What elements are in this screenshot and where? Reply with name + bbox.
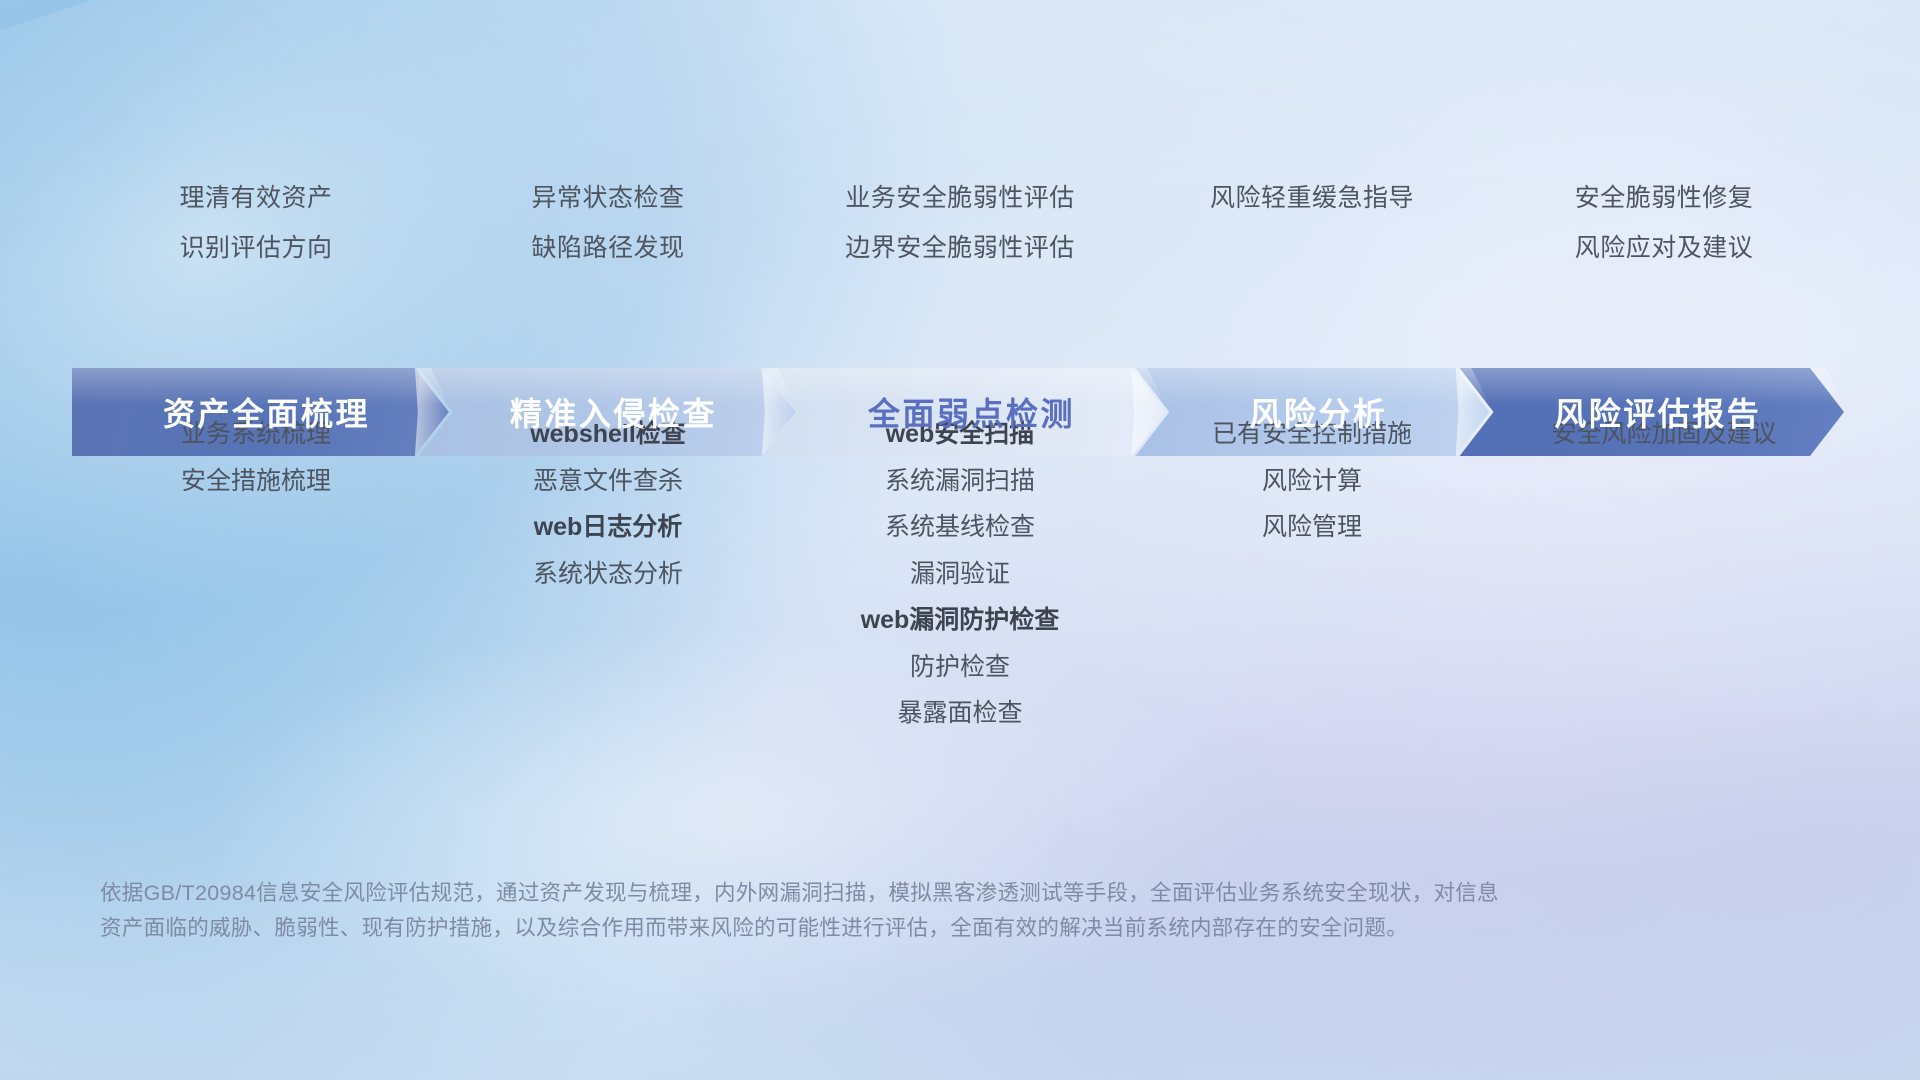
list-item: 暴露面检查 bbox=[897, 695, 1022, 733]
list-item: web日志分析 bbox=[534, 509, 683, 547]
top-label: 风险应对及建议 bbox=[1575, 228, 1754, 264]
list-item-latin: web漏洞防护检查 bbox=[861, 606, 1060, 634]
process-diagram: 理清有效资产 识别评估方向 异常状态检查 缺陷路径发现 业务安全脆弱性评估 边界… bbox=[0, 0, 1920, 1080]
list-item: 系统状态分析 bbox=[533, 556, 683, 594]
chevron-label: 风险评估报告 bbox=[1542, 389, 1761, 435]
list-item: 系统漏洞扫描 bbox=[885, 463, 1035, 501]
list-item: 系统基线检查 bbox=[885, 509, 1035, 547]
top-labels-asset-inventory: 理清有效资产 识别评估方向 bbox=[80, 178, 432, 288]
chevron-label: 资产全面梳理 bbox=[151, 389, 370, 435]
detail-list-weakness-detection: web安全扫描 系统漏洞扫描 系统基线检查 漏洞验证 web漏洞防护检查 防护检… bbox=[784, 412, 1136, 733]
list-item: 风险计算 bbox=[1262, 463, 1362, 501]
detail-list-intrusion-check: webshell检查 恶意文件查杀 web日志分析 系统状态分析 bbox=[432, 412, 784, 593]
top-labels-risk-analysis: 风险轻重缓急指导 bbox=[1136, 178, 1488, 288]
list-item: 风险管理 bbox=[1262, 509, 1362, 547]
top-labels-intrusion-check: 异常状态检查 缺陷路径发现 bbox=[432, 178, 784, 288]
list-item: 恶意文件查杀 bbox=[533, 463, 683, 501]
top-label: 风险轻重缓急指导 bbox=[1210, 178, 1414, 214]
footer-line-1: 依据GB/T20984信息安全风险评估规范，通过资产发现与梳理，内外网漏洞扫描，… bbox=[100, 876, 1620, 911]
list-item-latin: web日志分析 bbox=[534, 513, 683, 541]
list-item: 漏洞验证 bbox=[910, 556, 1010, 594]
top-label: 业务安全脆弱性评估 bbox=[845, 178, 1075, 214]
list-item: 安全措施梳理 bbox=[181, 463, 331, 501]
list-item: 防护检查 bbox=[910, 649, 1010, 687]
top-label: 理清有效资产 bbox=[179, 178, 332, 214]
top-label: 边界安全脆弱性评估 bbox=[845, 228, 1075, 264]
top-labels-risk-report: 安全脆弱性修复 风险应对及建议 bbox=[1488, 178, 1840, 288]
chevron-label: 精准入侵检查 bbox=[498, 389, 717, 435]
top-label: 缺陷路径发现 bbox=[531, 228, 684, 264]
top-label: 识别评估方向 bbox=[179, 228, 332, 264]
top-labels-weakness-detection: 业务安全脆弱性评估 边界安全脆弱性评估 bbox=[784, 178, 1136, 288]
footer-line-2: 资产面临的威胁、脆弱性、现有防护措施，以及综合作用而带来风险的可能性进行评估，全… bbox=[100, 911, 1620, 946]
list-item: web漏洞防护检查 bbox=[861, 602, 1060, 640]
chevron-label: 全面弱点检测 bbox=[856, 389, 1075, 435]
footer-description: 依据GB/T20984信息安全风险评估规范，通过资产发现与梳理，内外网漏洞扫描，… bbox=[100, 876, 1620, 946]
chevron-label: 风险分析 bbox=[1237, 389, 1387, 435]
stage-top-labels-row: 理清有效资产 识别评估方向 异常状态检查 缺陷路径发现 业务安全脆弱性评估 边界… bbox=[80, 178, 1840, 288]
stage-detail-lists-row: 业务系统梳理 安全措施梳理 webshell检查 恶意文件查杀 web日志分析 … bbox=[80, 412, 1840, 702]
top-label: 异常状态检查 bbox=[531, 178, 684, 214]
top-label: 安全脆弱性修复 bbox=[1575, 178, 1754, 214]
